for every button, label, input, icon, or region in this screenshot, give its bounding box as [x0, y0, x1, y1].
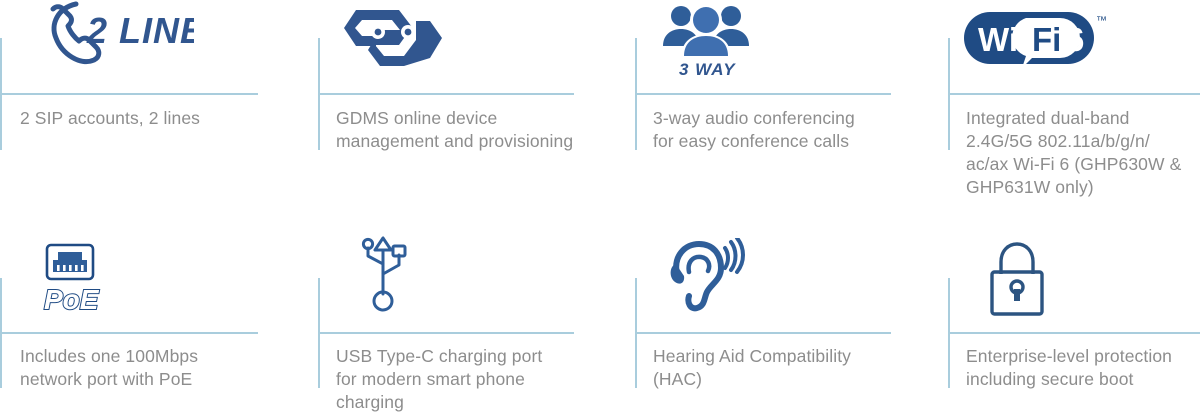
wifi-word-label: Wi: [978, 21, 1018, 58]
cell-rule-horizontal: [0, 332, 258, 334]
feature-description: Enterprise-level protection including se…: [966, 345, 1200, 391]
wifi-6-icon: Wi Fi 6 ™: [960, 6, 1112, 72]
padlock-security-icon: [986, 240, 1048, 318]
fi-word-label: Fi: [1032, 21, 1061, 58]
feature-description: Includes one 100Mbps network port with P…: [20, 345, 270, 391]
cell-rule-horizontal: [0, 93, 258, 95]
feature-grid: 2 LINES 2 SIP accounts, 2 lines GDMS onl…: [0, 0, 1200, 413]
feature-description: USB Type-C charging port for modern smar…: [336, 345, 606, 413]
cell-rule-horizontal: [318, 332, 574, 334]
feature-description: Hearing Aid Compatibility (HAC): [653, 345, 903, 391]
trademark-icon: ™: [1096, 15, 1107, 27]
cell-rule-horizontal: [318, 93, 574, 95]
gdms-hexagon-icon: [342, 8, 447, 68]
feature-description: Integrated dual-band 2.4G/5G 802.11a/b/g…: [966, 107, 1200, 199]
usb-type-c-icon: [350, 228, 416, 314]
hearing-aid-ear-icon: [663, 238, 747, 314]
poe-ethernet-port-icon: PoE: [38, 243, 114, 317]
feature-description: 2 SIP accounts, 2 lines: [20, 107, 270, 130]
three-way-badge-label: 3 WAY: [679, 60, 736, 78]
six-numeral-label: 6: [1066, 21, 1084, 58]
feature-description: 3-way audio conferencing for easy confer…: [653, 107, 903, 153]
cell-rule-horizontal: [948, 93, 1200, 95]
cell-rule-horizontal: [948, 332, 1200, 334]
two-lines-badge-label: 2 LINES: [86, 10, 194, 51]
poe-badge-label: PoE: [44, 284, 100, 315]
cell-rule-horizontal: [635, 93, 891, 95]
three-way-conference-icon: 3 WAY: [655, 2, 765, 78]
cell-rule-horizontal: [635, 332, 891, 334]
two-lines-phone-icon: 2 LINES: [24, 0, 194, 70]
feature-description: GDMS online device management and provis…: [336, 107, 606, 153]
